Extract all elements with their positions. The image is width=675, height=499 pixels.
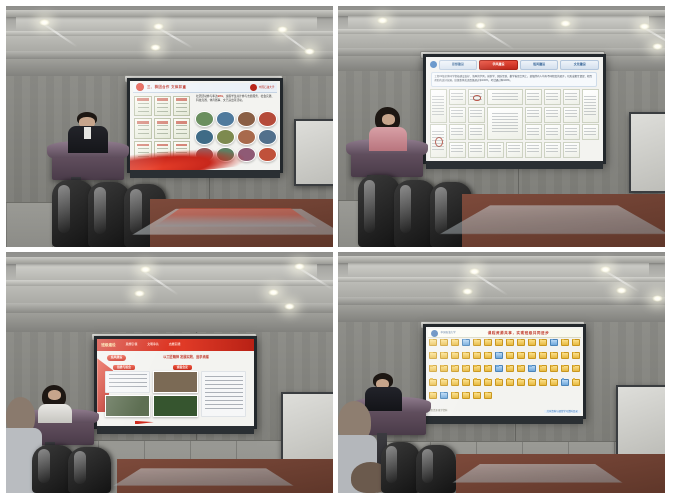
screen-bottom-bar bbox=[97, 426, 254, 434]
room-scene: 班级建设 思想引领 文明争先 志愿实践 班风建设 以工匠精神 发展实践、追求卓越… bbox=[6, 252, 333, 493]
document-grid bbox=[430, 89, 600, 157]
folder-icon bbox=[484, 379, 492, 386]
folder-icon bbox=[528, 339, 536, 346]
file-item[interactable]: —— bbox=[483, 392, 493, 404]
folder-icon bbox=[528, 379, 536, 386]
document-thumb bbox=[544, 107, 562, 123]
file-name: —— bbox=[563, 373, 566, 375]
projector-screen: 思想建设 学风建设 班风建设 文化建设 工程22级全体同学积极建设良好、浓厚的学… bbox=[423, 54, 606, 164]
nav-item-sixiang-yinling[interactable]: 思想引领 bbox=[126, 343, 138, 347]
slide-body-text: 社团活动参与率达98%，班级学生共计参与志愿服务、社会实践、科技竞赛、体育赛事、… bbox=[196, 95, 276, 103]
file-item[interactable]: —— bbox=[450, 365, 460, 377]
folder-icon bbox=[539, 379, 547, 386]
ceiling-spotlight bbox=[150, 44, 161, 51]
file-name: —— bbox=[465, 360, 468, 362]
folder-icon bbox=[484, 352, 492, 359]
folder-icon bbox=[429, 379, 437, 386]
projector-screen: 中国石油大学 课程资源共享，实现班级共同进步 —————————————————… bbox=[423, 324, 586, 419]
file-item[interactable]: —— bbox=[549, 339, 559, 351]
chair bbox=[68, 447, 111, 493]
document-thumb bbox=[449, 124, 467, 140]
ceiling-band bbox=[338, 256, 665, 263]
photo-thumb bbox=[153, 371, 198, 393]
file-item[interactable]: —— bbox=[538, 379, 548, 391]
folder-icon bbox=[462, 392, 470, 399]
slide-nav: 思想引领 文明争先 志愿实践 bbox=[126, 343, 181, 347]
room-scene: 三、群团合作 文体并重 中国石油大学 bbox=[6, 6, 333, 247]
file-item[interactable]: —— bbox=[560, 339, 570, 351]
slide-slogan: 以工匠精神 发展实践、追求卓越 bbox=[163, 355, 209, 359]
whiteboard bbox=[294, 119, 333, 186]
document-thumb bbox=[449, 142, 467, 158]
presenter-body bbox=[365, 387, 402, 411]
circle-photo bbox=[195, 129, 214, 145]
file-name: —— bbox=[519, 373, 522, 375]
file-item[interactable]: —— bbox=[494, 365, 504, 377]
chair-highlight bbox=[400, 185, 412, 234]
emblem-icon bbox=[136, 83, 144, 91]
presenter bbox=[367, 107, 410, 150]
file-name: —— bbox=[530, 373, 533, 375]
file-name: —— bbox=[552, 386, 555, 388]
panel-top-left: 三、群团合作 文体并重 中国石油大学 bbox=[6, 6, 333, 247]
photo-thumb bbox=[105, 395, 150, 417]
file-item[interactable]: —— bbox=[450, 379, 460, 391]
file-name: —— bbox=[530, 346, 533, 348]
folder-icon bbox=[495, 379, 503, 386]
tab-sixiang-jianshe[interactable]: 思想建设 bbox=[439, 60, 478, 69]
file-item[interactable]: —— bbox=[450, 392, 460, 404]
file-item[interactable]: —— bbox=[560, 352, 570, 364]
document-thumb bbox=[430, 124, 448, 157]
emblem-icon bbox=[430, 61, 437, 68]
folder-icon bbox=[484, 365, 492, 372]
folder-icon bbox=[451, 392, 459, 399]
file-item[interactable]: —— bbox=[527, 352, 537, 364]
file-item[interactable]: —— bbox=[428, 365, 438, 377]
folder-icon bbox=[561, 339, 569, 346]
folder-icon bbox=[473, 339, 481, 346]
folder-icon bbox=[517, 352, 525, 359]
file-name: —— bbox=[432, 346, 435, 348]
slide-brand: 班级建设 bbox=[101, 343, 115, 347]
file-item[interactable]: —— bbox=[494, 352, 504, 364]
folder-icon bbox=[572, 352, 580, 359]
chair bbox=[381, 442, 420, 493]
folder-icon bbox=[462, 352, 470, 359]
slide-file-grid: 中国石油大学 课程资源共享，实现班级共同进步 —————————————————… bbox=[426, 327, 583, 416]
file-item[interactable]: —— bbox=[461, 352, 471, 364]
document-thumb bbox=[525, 107, 543, 123]
document-thumb bbox=[468, 107, 486, 123]
slide-surface: 班级建设 思想引领 文明争先 志愿实践 班风建设 以工匠精神 发展实践、追求卓越… bbox=[97, 339, 254, 426]
folder-icon bbox=[550, 352, 558, 359]
file-name: —— bbox=[432, 360, 435, 362]
document-thumb bbox=[487, 142, 505, 158]
ceiling-band bbox=[6, 51, 333, 60]
slide-title: 三、群团合作 文体并重 bbox=[147, 85, 186, 89]
file-name: —— bbox=[476, 386, 479, 388]
slide-title: 课程资源共享，实现班级共同进步 bbox=[459, 331, 579, 335]
file-name: —— bbox=[563, 386, 566, 388]
file-name: —— bbox=[465, 386, 468, 388]
file-item[interactable]: —— bbox=[505, 365, 515, 377]
chair-highlight bbox=[58, 185, 70, 234]
document-thumb bbox=[430, 89, 448, 122]
document-thumb bbox=[525, 124, 543, 140]
file-item[interactable]: —— bbox=[439, 339, 449, 351]
file-item[interactable]: —— bbox=[461, 365, 471, 377]
document-thumb bbox=[506, 142, 524, 158]
card-column bbox=[153, 371, 198, 416]
folder-icon bbox=[561, 365, 569, 372]
certificate-thumb bbox=[154, 96, 171, 117]
file-name: —— bbox=[454, 346, 457, 348]
file-item[interactable]: —— bbox=[494, 379, 504, 391]
document-thumb bbox=[487, 89, 524, 105]
photo-thumb bbox=[153, 395, 198, 417]
folder-icon bbox=[440, 365, 448, 372]
certificate-thumb bbox=[154, 118, 171, 139]
red-arrow-decor bbox=[135, 421, 154, 424]
file-item[interactable]: —— bbox=[428, 339, 438, 351]
projector-screen: 三、群团合作 文体并重 中国石油大学 bbox=[127, 78, 283, 173]
university-mark: 中国石油大学 bbox=[250, 84, 275, 91]
presenter bbox=[364, 373, 403, 412]
document-thumb bbox=[468, 89, 486, 105]
file-name: —— bbox=[487, 360, 490, 362]
file-name: —— bbox=[465, 346, 468, 348]
file-item[interactable]: —— bbox=[450, 352, 460, 364]
whiteboard bbox=[616, 385, 665, 456]
file-name: —— bbox=[563, 360, 566, 362]
file-item[interactable]: —— bbox=[516, 352, 526, 364]
file-item[interactable]: —— bbox=[505, 339, 515, 351]
file-name: —— bbox=[498, 346, 501, 348]
body-text-prefix: 社团活动参与率达 bbox=[196, 95, 218, 98]
file-grid: ————————————————————————————————————————… bbox=[428, 339, 580, 404]
ceiling-spotlight bbox=[284, 303, 295, 310]
file-name: —— bbox=[541, 386, 544, 388]
file-name: —— bbox=[519, 346, 522, 348]
folder-icon bbox=[473, 379, 481, 386]
file-item[interactable]: —— bbox=[439, 365, 449, 377]
chair-highlight bbox=[38, 449, 50, 484]
folder-icon bbox=[429, 339, 437, 346]
file-item[interactable]: —— bbox=[571, 365, 581, 377]
file-item[interactable]: —— bbox=[472, 352, 482, 364]
file-name: —— bbox=[508, 373, 511, 375]
circle-photo bbox=[237, 111, 256, 127]
document-thumb bbox=[525, 89, 543, 105]
folder-icon bbox=[473, 352, 481, 359]
file-name: —— bbox=[432, 386, 435, 388]
pill-right: 班级会议 bbox=[173, 365, 192, 370]
file-name: —— bbox=[508, 386, 511, 388]
file-item[interactable]: —— bbox=[472, 392, 482, 404]
file-name: —— bbox=[563, 346, 566, 348]
folder-icon bbox=[429, 392, 437, 399]
folder-icon bbox=[473, 365, 481, 372]
ceiling-band bbox=[338, 297, 665, 306]
pill-left: 班委与班会 bbox=[113, 365, 135, 370]
slide-red-header: 班级建设 思想引领 文明争先 志愿实践 bbox=[97, 339, 254, 350]
file-name: —— bbox=[519, 360, 522, 362]
folder-icon bbox=[462, 365, 470, 372]
ceiling-spotlight bbox=[462, 288, 473, 295]
chair-highlight bbox=[130, 189, 142, 234]
file-name: —— bbox=[443, 386, 446, 388]
file-name: —— bbox=[530, 386, 533, 388]
document-thumb bbox=[525, 142, 543, 158]
file-name: —— bbox=[487, 386, 490, 388]
tab-banfeng-jianshe[interactable]: 班风建设 bbox=[520, 60, 559, 69]
folder-icon bbox=[462, 379, 470, 386]
footer-left-label: 课程资源 教学资料 bbox=[428, 410, 447, 413]
ceiling bbox=[338, 252, 665, 324]
text-block bbox=[105, 371, 150, 393]
folder-icon bbox=[517, 339, 525, 346]
whiteboard bbox=[281, 392, 333, 468]
university-name: 中国石油大学 bbox=[441, 331, 456, 334]
folder-icon bbox=[451, 379, 459, 386]
folder-icon bbox=[506, 339, 514, 346]
presenter-face bbox=[48, 390, 61, 400]
nav-item-zhiyuan-shijian[interactable]: 志愿实践 bbox=[169, 343, 181, 347]
folder-icon bbox=[440, 352, 448, 359]
file-item[interactable]: —— bbox=[483, 352, 493, 364]
file-name: —— bbox=[443, 346, 446, 348]
folder-icon bbox=[473, 392, 481, 399]
file-item[interactable]: —— bbox=[549, 352, 559, 364]
file-name: —— bbox=[432, 373, 435, 375]
file-name: —— bbox=[476, 360, 479, 362]
document-thumb bbox=[582, 124, 600, 140]
slide-paragraph: 工程22级全体同学积极建设良好、浓厚的学风，创新学、团队互助、勤学善思之风上，班… bbox=[431, 72, 597, 88]
file-name: —— bbox=[498, 360, 501, 362]
certificate-thumb bbox=[173, 96, 190, 117]
chair bbox=[416, 445, 455, 493]
certificate-thumb bbox=[173, 118, 190, 139]
presenter bbox=[35, 385, 74, 424]
file-item[interactable]: —— bbox=[483, 339, 493, 351]
file-item[interactable]: —— bbox=[483, 379, 493, 391]
table-reflection bbox=[115, 468, 293, 485]
university-logo-icon bbox=[250, 84, 257, 91]
ceiling-spotlight bbox=[268, 289, 279, 296]
file-name: —— bbox=[574, 360, 577, 362]
file-item[interactable]: —— bbox=[538, 339, 548, 351]
screen-bottom-bar bbox=[426, 161, 603, 169]
folder-icon bbox=[539, 339, 547, 346]
folder-icon bbox=[451, 339, 459, 346]
file-name: —— bbox=[552, 360, 555, 362]
folder-icon bbox=[506, 352, 514, 359]
slide-surface: 中国石油大学 课程资源共享，实现班级共同进步 —————————————————… bbox=[426, 327, 583, 416]
folder-icon bbox=[550, 339, 558, 346]
file-item[interactable]: —— bbox=[560, 379, 570, 391]
folder-icon bbox=[572, 379, 580, 386]
file-item[interactable]: —— bbox=[428, 352, 438, 364]
text-block bbox=[201, 371, 246, 416]
file-name: —— bbox=[454, 386, 457, 388]
folder-icon bbox=[429, 352, 437, 359]
file-item[interactable]: —— bbox=[505, 352, 515, 364]
file-name: —— bbox=[432, 399, 435, 401]
file-item[interactable]: —— bbox=[571, 352, 581, 364]
file-name: —— bbox=[541, 373, 544, 375]
file-name: —— bbox=[541, 360, 544, 362]
document-thumb bbox=[544, 142, 562, 158]
document-thumb bbox=[544, 89, 562, 105]
document-thumb bbox=[449, 107, 467, 123]
file-name: —— bbox=[443, 360, 446, 362]
file-item[interactable]: —— bbox=[527, 339, 537, 351]
folder-icon bbox=[495, 365, 503, 372]
panel-bottom-left: 班级建设 思想引领 文明争先 志愿实践 班风建设 以工匠精神 发展实践、追求卓越… bbox=[6, 252, 333, 493]
circle-photo bbox=[216, 111, 235, 127]
file-name: —— bbox=[530, 360, 533, 362]
chair-highlight bbox=[422, 449, 433, 484]
chair-highlight bbox=[435, 187, 447, 234]
file-item[interactable]: —— bbox=[549, 365, 559, 377]
panel-top-right: 思想建设 学风建设 班风建设 文化建设 工程22级全体同学积极建设良好、浓厚的学… bbox=[338, 6, 665, 247]
circle-photo bbox=[237, 129, 256, 145]
folder-icon bbox=[539, 365, 547, 372]
screen-bottom-bar bbox=[426, 416, 583, 424]
document-thumb bbox=[563, 89, 581, 105]
folder-icon bbox=[561, 352, 569, 359]
file-item[interactable]: —— bbox=[571, 379, 581, 391]
folder-icon bbox=[451, 365, 459, 372]
file-item[interactable]: —— bbox=[516, 339, 526, 351]
file-item[interactable]: —— bbox=[516, 379, 526, 391]
file-item[interactable]: —— bbox=[428, 379, 438, 391]
file-name: —— bbox=[574, 373, 577, 375]
slide-banner-cards: 班级建设 思想引领 文明争先 志愿实践 班风建设 以工匠精神 发展实践、追求卓越… bbox=[97, 339, 254, 426]
projector-screen: 班级建设 思想引领 文明争先 志愿实践 班风建设 以工匠精神 发展实践、追求卓越… bbox=[94, 336, 257, 429]
file-name: —— bbox=[574, 386, 577, 388]
tab-wenhua-jianshe[interactable]: 文化建设 bbox=[560, 60, 599, 69]
ceiling-spotlight bbox=[134, 290, 145, 297]
file-item[interactable]: —— bbox=[461, 379, 471, 391]
file-item[interactable]: —— bbox=[461, 339, 471, 351]
file-name: —— bbox=[476, 399, 479, 401]
ceiling-spotlight bbox=[652, 43, 663, 50]
document-thumb bbox=[563, 107, 581, 123]
file-name: —— bbox=[465, 399, 468, 401]
file-name: —— bbox=[454, 360, 457, 362]
chair-highlight bbox=[94, 187, 106, 234]
ceiling-spotlight bbox=[616, 287, 627, 294]
slide-header: 中国石油大学 课程资源共享，实现班级共同进步 bbox=[428, 329, 582, 338]
folder-icon bbox=[528, 365, 536, 372]
folder-icon bbox=[528, 352, 536, 359]
slide-tabbed-documents: 思想建设 学风建设 班风建设 文化建设 工程22级全体同学积极建设良好、浓厚的学… bbox=[426, 57, 603, 161]
circle-photo bbox=[258, 129, 277, 145]
pill-primary: 班风建设 bbox=[107, 355, 127, 361]
file-item[interactable]: —— bbox=[450, 339, 460, 351]
folder-icon bbox=[550, 379, 558, 386]
tab-xuefeng-jianshe[interactable]: 学风建设 bbox=[479, 60, 518, 69]
file-item[interactable]: —— bbox=[571, 339, 581, 351]
ceiling-band bbox=[6, 10, 333, 17]
file-name: —— bbox=[508, 360, 511, 362]
circle-photo bbox=[195, 111, 214, 127]
file-name: —— bbox=[476, 373, 479, 375]
footer-right-label: 共享资料与课堂学习资料目录 bbox=[544, 410, 581, 413]
file-item[interactable]: —— bbox=[538, 352, 548, 364]
file-item[interactable]: —— bbox=[538, 365, 548, 377]
file-name: —— bbox=[552, 373, 555, 375]
folder-icon bbox=[506, 365, 514, 372]
file-item[interactable]: —— bbox=[472, 379, 482, 391]
folder-icon bbox=[495, 339, 503, 346]
file-name: —— bbox=[498, 373, 501, 375]
nav-item-wenming-zhengxian[interactable]: 文明争先 bbox=[147, 343, 159, 347]
document-thumb bbox=[563, 142, 581, 158]
file-item[interactable]: —— bbox=[527, 365, 537, 377]
file-item[interactable]: —— bbox=[527, 379, 537, 391]
document-thumb bbox=[449, 89, 467, 105]
file-name: —— bbox=[487, 373, 490, 375]
photo-collage: 三、群团合作 文体并重 中国石油大学 bbox=[0, 0, 675, 499]
file-item[interactable]: —— bbox=[472, 339, 482, 351]
card-column bbox=[201, 371, 246, 416]
file-item[interactable]: —— bbox=[439, 352, 449, 364]
file-item[interactable]: —— bbox=[505, 379, 515, 391]
presenter-body bbox=[369, 127, 407, 151]
folder-icon bbox=[440, 339, 448, 346]
file-item[interactable]: —— bbox=[439, 392, 449, 404]
folder-icon bbox=[572, 365, 580, 372]
panel-bottom-right: 中国石油大学 课程资源共享，实现班级共同进步 —————————————————… bbox=[338, 252, 665, 493]
folder-icon bbox=[539, 352, 547, 359]
presenter-shirt bbox=[84, 127, 91, 139]
chair-highlight bbox=[386, 446, 397, 482]
folder-icon bbox=[484, 339, 492, 346]
file-item[interactable]: —— bbox=[516, 365, 526, 377]
file-name: —— bbox=[487, 346, 490, 348]
folder-icon bbox=[429, 365, 437, 372]
folder-icon bbox=[550, 365, 558, 372]
card-column bbox=[105, 371, 150, 416]
slide-surface: 三、群团合作 文体并重 中国石油大学 bbox=[130, 81, 280, 170]
file-name: —— bbox=[454, 399, 457, 401]
file-item[interactable]: —— bbox=[549, 379, 559, 391]
document-thumb bbox=[468, 124, 486, 140]
file-name: —— bbox=[487, 399, 490, 401]
presenter-body bbox=[38, 404, 73, 423]
file-item[interactable]: —— bbox=[560, 365, 570, 377]
file-item[interactable]: —— bbox=[439, 379, 449, 391]
folder-icon bbox=[484, 392, 492, 399]
ceiling bbox=[6, 252, 333, 334]
slide-honors: 三、群团合作 文体并重 中国石油大学 bbox=[130, 81, 280, 170]
university-name: 中国石油大学 bbox=[259, 86, 275, 89]
ceiling-band bbox=[338, 10, 665, 16]
folder-icon bbox=[517, 379, 525, 386]
file-name: —— bbox=[465, 373, 468, 375]
file-item[interactable]: —— bbox=[472, 365, 482, 377]
file-item[interactable]: —— bbox=[461, 392, 471, 404]
file-name: —— bbox=[552, 346, 555, 348]
folder-icon bbox=[462, 339, 470, 346]
file-item[interactable]: —— bbox=[494, 339, 504, 351]
ceiling bbox=[6, 6, 333, 78]
university-logo-icon bbox=[431, 330, 438, 337]
file-item[interactable]: —— bbox=[483, 365, 493, 377]
